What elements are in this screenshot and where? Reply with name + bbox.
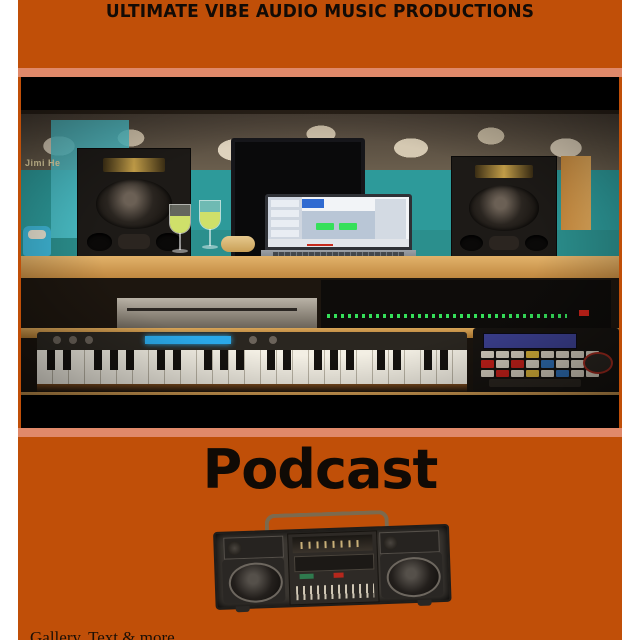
glass-foot [172,249,188,253]
piano-black-keys [37,350,467,370]
sampler-jog-wheel [583,352,613,374]
boombox-indicator-red [334,573,344,578]
keyboard-knob-icon [69,336,77,344]
tweeter-left-icon [103,158,166,172]
jimi-poster-text: Jimi He [25,158,61,168]
wine-glass [199,200,221,252]
header-band: ULTIMATE VIBE AUDIO MUSIC PRODUCTIONS [18,0,622,68]
boombox-indicator-green [300,574,314,579]
boombox-foot [236,606,250,612]
keyboard-knob-icon [53,336,61,344]
wine-fill [170,216,190,233]
tweeter-right-icon [475,165,533,178]
boombox-speaker-left [222,558,285,604]
daw-record-indicator [307,244,332,246]
boombox-cone-icon [228,562,283,604]
keyboard-knob-icon [269,336,277,344]
studio-photo: Jimi He [21,77,619,428]
boombox-control-panel [287,530,379,605]
led-meter-icon [327,314,567,318]
speaker-knobs-icon [118,234,149,249]
boombox-cone-icon [386,556,441,598]
glass-bowl [199,200,221,230]
wall-wood-trim [561,156,591,230]
daw-audio-clip [339,223,357,230]
poster-panel: ULTIMATE VIBE AUDIO MUSIC PRODUCTIONS Ji… [18,0,622,640]
boombox-tweeter-right [379,530,440,554]
studio-monitor-right [451,156,557,258]
rack-gear [321,280,611,328]
studio-photo-content: Jimi He [21,110,619,395]
daw-transport-bar [268,239,409,247]
laptop-screen [268,197,409,247]
boombox-foot [418,599,432,605]
divider-rule-top [18,68,622,77]
daw-selection [302,199,325,208]
books-stack [117,298,317,328]
sampler-disk-slot [489,379,581,387]
blue-toy-figure [23,226,51,256]
keyboard-chassis [37,332,467,350]
keyboard-display [145,336,231,344]
poster-page: ULTIMATE VIBE AUDIO MUSIC PRODUCTIONS Ji… [0,0,640,640]
sampler-pads [481,351,599,377]
boombox-illustration [212,508,447,608]
boombox-cassette-deck [294,553,375,572]
daw-track-area [375,199,406,241]
keyboard-front-edge [37,384,467,392]
woofer-right-icon [469,185,540,231]
woofer-left-icon [96,179,172,229]
bread-roll [221,236,255,252]
glass-foot [202,245,218,249]
drum-sampler [473,328,619,392]
boombox-tweeter-left [223,536,284,560]
wine-fill [200,212,220,229]
speaker-knobs-icon [489,236,518,250]
desk-front-edge [21,392,619,395]
page-title: ULTIMATE VIBE AUDIO MUSIC PRODUCTIONS [27,2,613,22]
rack-power-led-icon [579,310,589,316]
desk-surface [21,256,619,278]
boombox-tuner-dial [292,535,373,554]
bass-port-icon [525,235,548,251]
bottom-caption: Gallery, Text & more [30,628,430,640]
bass-port-icon [87,233,112,250]
keyboard-knob-icon [249,336,257,344]
midi-keyboard [37,332,467,392]
boombox-body [213,524,452,610]
divider-rule-bottom [18,428,622,437]
bass-port-icon [460,235,483,251]
glass-stem [179,233,181,250]
glass-stem [209,229,211,246]
podcast-title: Podcast [18,438,622,501]
boombox-speaker-right [380,552,443,598]
wine-glass [169,204,191,256]
boombox-equalizer-sliders [296,583,374,600]
sampler-display [483,333,577,349]
glass-bowl [169,204,191,234]
keyboard-knob-icon [85,336,93,344]
laptop-lid [265,194,412,250]
daw-audio-clip [316,223,334,230]
